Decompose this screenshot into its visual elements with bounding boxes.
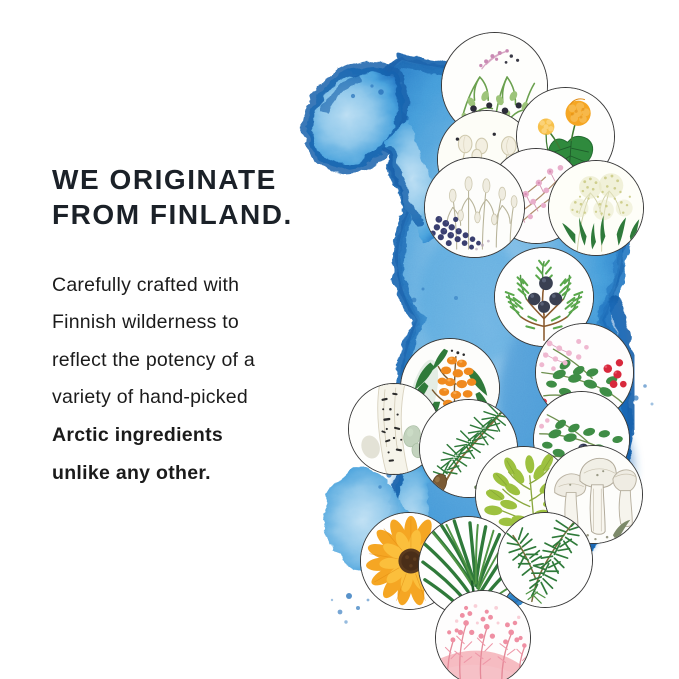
body-line-3: reflect the potency of a (52, 342, 352, 380)
body-copy: Carefully crafted with Finnish wildernes… (52, 267, 352, 493)
badge-willowherb (435, 590, 531, 679)
body-line-2: Finnish wilderness to (52, 304, 352, 342)
body-line-4: variety of hand-picked (52, 379, 352, 417)
body-line-5: Arctic ingredients (52, 417, 352, 455)
body-line-1: Carefully crafted with (52, 267, 352, 305)
text-panel: WE ORIGINATE FROM FINLAND. Carefully cra… (52, 162, 352, 492)
meadowsweet-icon (549, 161, 643, 255)
fir-branch-icon (498, 513, 592, 607)
map-northwest-arm (307, 67, 403, 169)
badge-fir-branch (497, 512, 593, 608)
badge-oat-grain (424, 157, 525, 258)
oat-grain-icon (425, 158, 524, 257)
willowherb-icon (436, 591, 530, 679)
body-line-6: unlike any other. (52, 455, 352, 493)
poster-canvas: WE ORIGINATE FROM FINLAND. Carefully cra… (0, 0, 679, 679)
badge-meadowsweet (548, 160, 644, 256)
page-title: WE ORIGINATE FROM FINLAND. (52, 162, 352, 233)
